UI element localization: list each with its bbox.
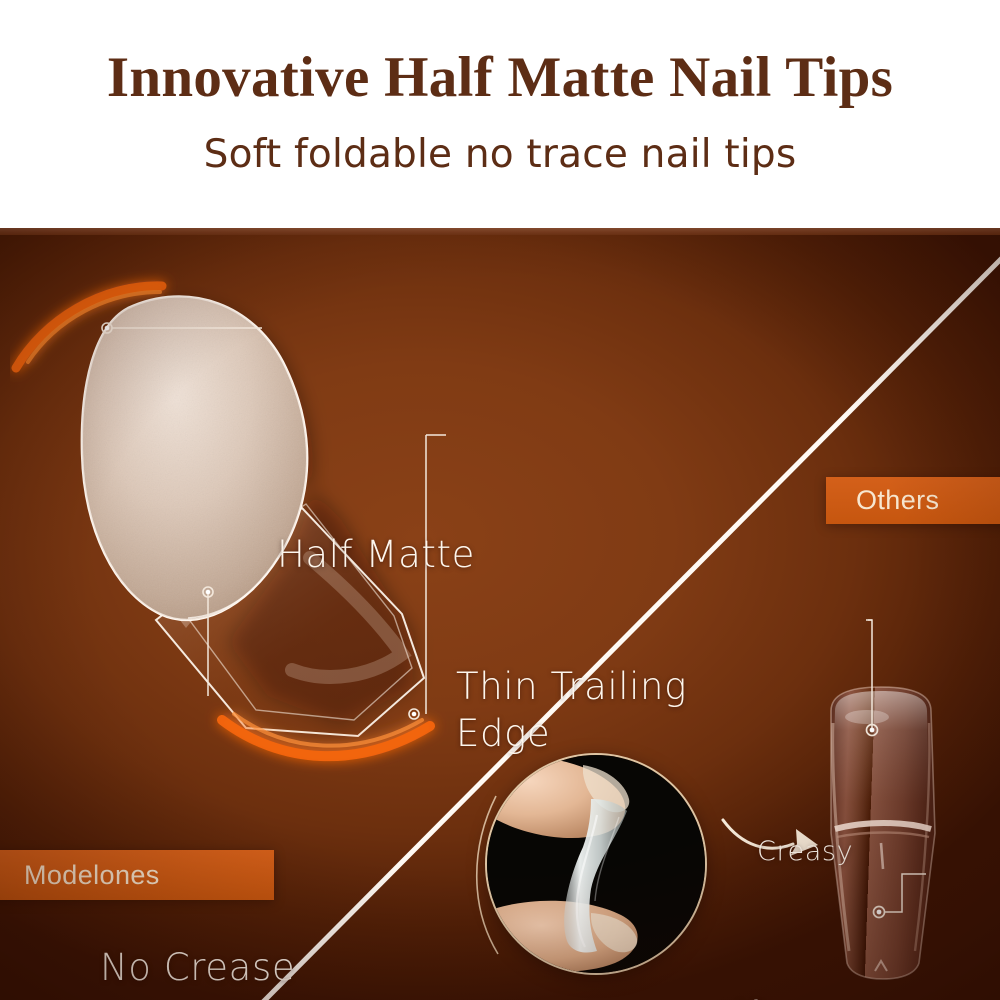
bend-demo-photo [487,755,705,973]
orange-glow-bottom [222,714,430,756]
callout-half-matte: Half Matte [277,533,475,576]
header-banner: Innovative Half Matte Nail Tips Soft fol… [0,0,1000,228]
orange-glow-top [16,286,162,368]
page-title: Innovative Half Matte Nail Tips [0,48,1000,108]
page-subtitle: Soft foldable no trace nail tips [0,134,1000,177]
product-infographic: Innovative Half Matte Nail Tips Soft fol… [0,0,1000,1000]
callout-thin-trailing-edge: Thin Trailing Edge [456,663,687,758]
callout-after-bend: After Bend [731,995,799,1000]
callout-no-crease: No Crease [100,946,295,989]
badge-modelones: Modelones [0,850,274,900]
comparison-stage: Half Matte Thin Trailing Edge No Crease … [0,228,1000,1000]
stage-top-edge [0,228,1000,235]
badge-others: Others [826,477,1000,524]
matte-tip-surface [70,268,340,648]
competitor-abs-nail-tip [795,683,970,983]
callout-creasy: Creasy [757,836,853,867]
modelones-nail-tip-illustration [10,258,530,778]
